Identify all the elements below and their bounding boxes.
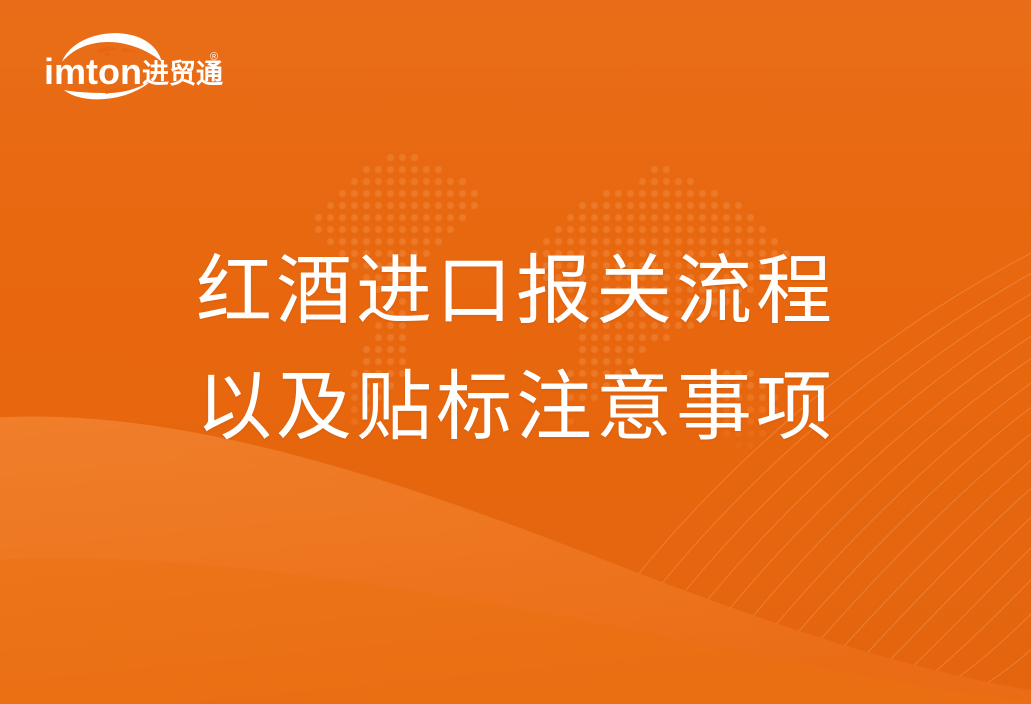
logo-latin-text: imton (44, 51, 142, 92)
title-line-1: 红酒进口报关流程 (196, 234, 836, 350)
globe-swoosh-logo: imton 进贸通 ® (42, 28, 228, 100)
title-line-2: 以及贴标注意事项 (196, 350, 836, 466)
page-title: 红酒进口报关流程 以及贴标注意事项 (196, 234, 836, 466)
trademark-icon: ® (210, 51, 218, 63)
logo-chinese-text: 进贸通 (142, 59, 223, 89)
brand-logo[interactable]: imton 进贸通 ® (42, 28, 228, 100)
promo-banner: imton 进贸通 ® 红酒进口报关流程 以及贴标注意事项 (0, 0, 1031, 704)
